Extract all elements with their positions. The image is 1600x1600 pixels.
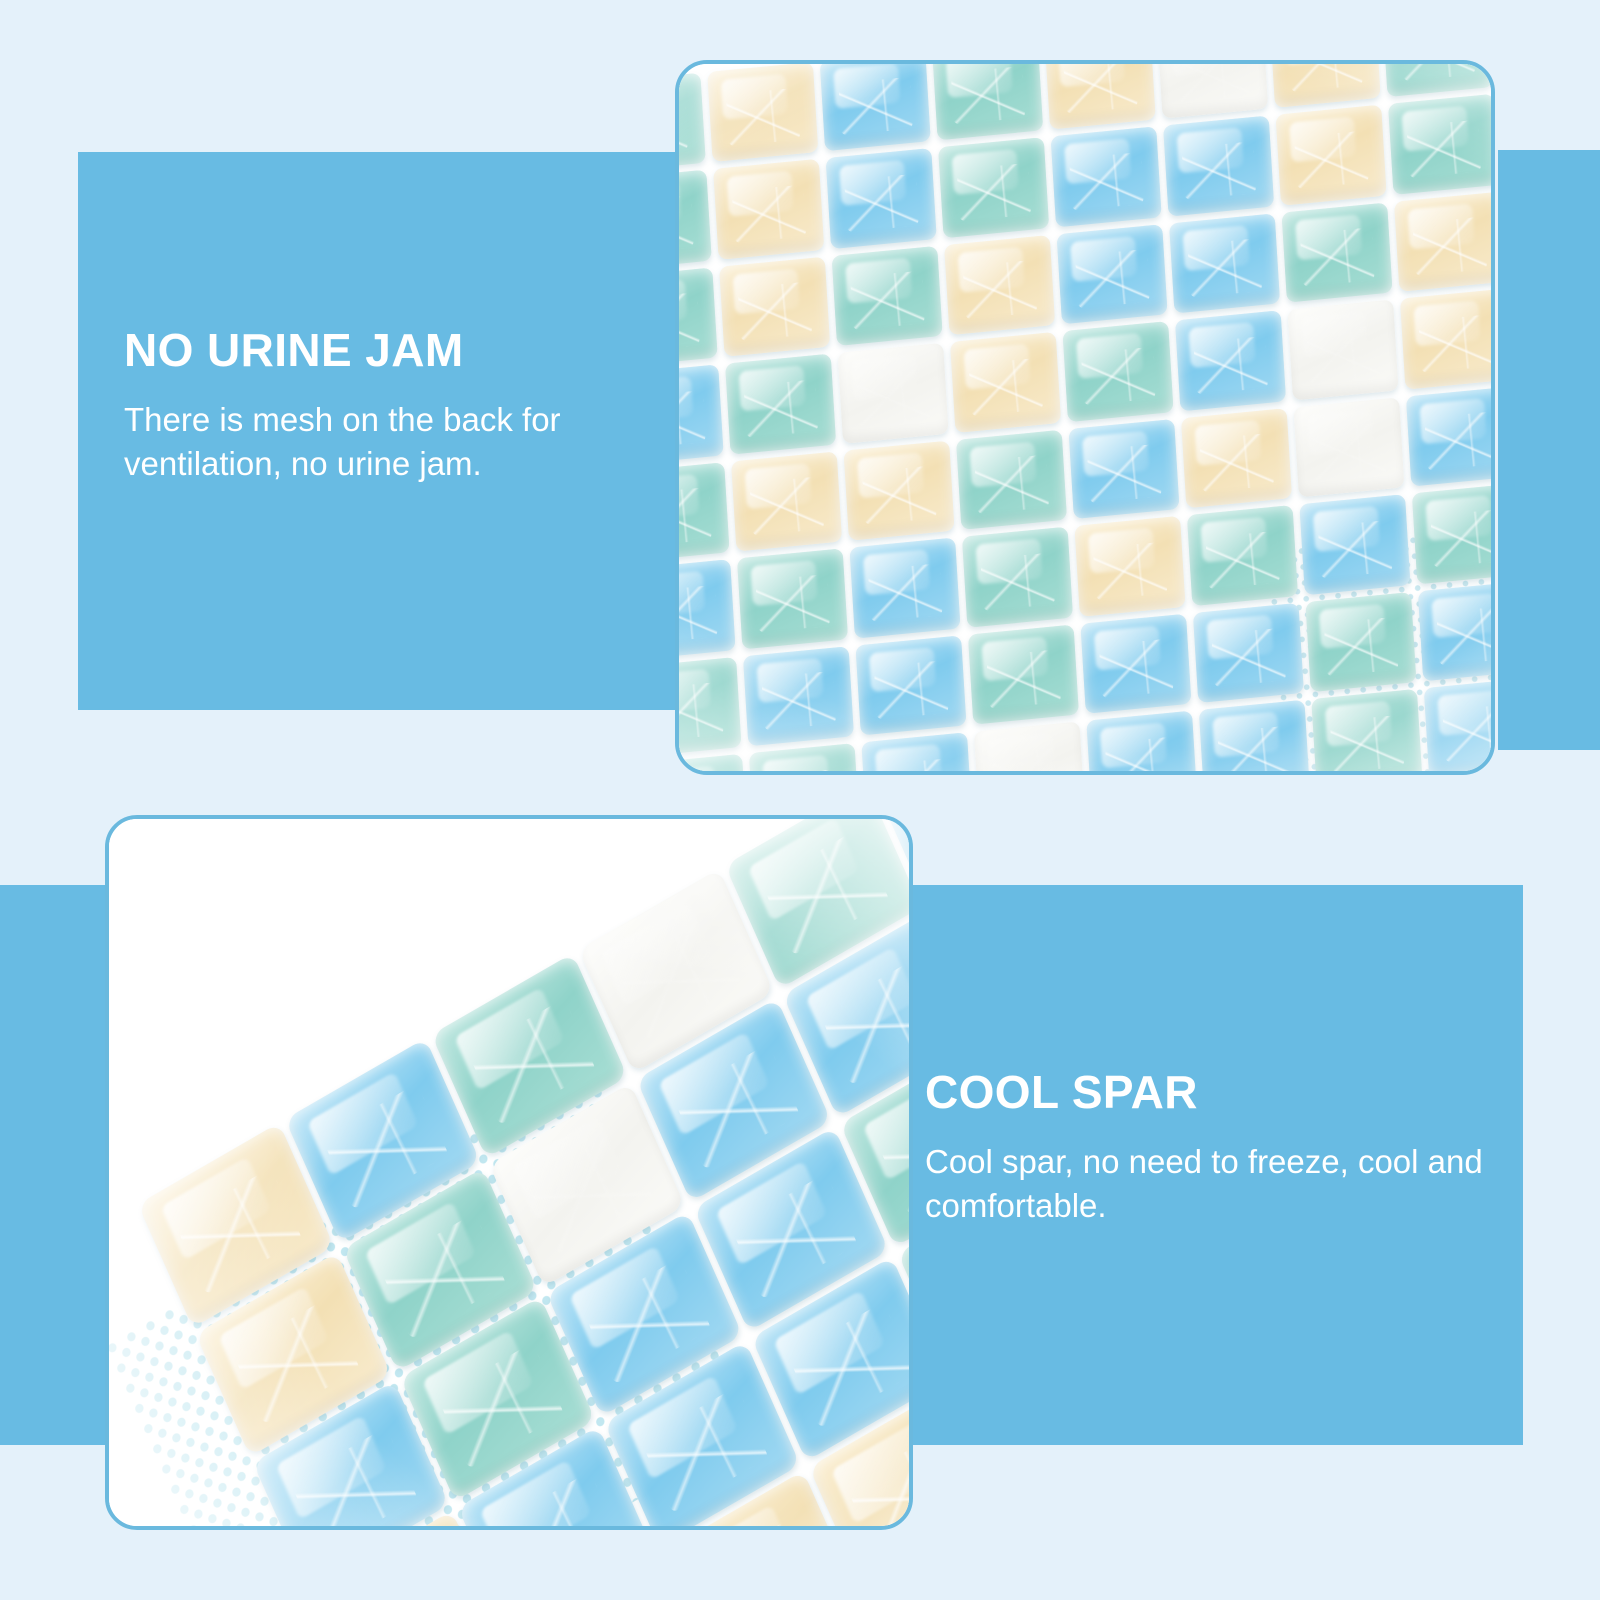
mosaic-tile [679, 73, 706, 173]
mosaic-tile [1287, 300, 1398, 400]
mosaic-tile [1400, 289, 1491, 389]
mosaic-tile [950, 332, 1061, 432]
mosaic-tile [968, 624, 1079, 724]
mosaic-tile [1163, 116, 1274, 216]
mosaic-tile [1080, 613, 1191, 713]
top-product-image-card [675, 60, 1495, 775]
mosaic-tile [1311, 689, 1422, 771]
mosaic-tile [956, 430, 1067, 530]
mosaic-tile [1175, 311, 1286, 411]
mosaic-tile [679, 267, 718, 367]
bottom-body-text: Cool spar, no need to freeze, cool and c… [925, 1140, 1485, 1228]
mosaic-tile [932, 64, 1043, 141]
mosaic-tile [1276, 105, 1387, 205]
mosaic-tile [1406, 386, 1491, 486]
mosaic-tile [974, 722, 1085, 771]
mosaic-tile [1394, 192, 1491, 292]
bottom-product-photo [109, 819, 909, 1526]
mosaic-tile [1412, 484, 1491, 584]
mosaic-tile [679, 170, 712, 270]
mosaic-tile [1293, 397, 1404, 497]
mosaic-tile-mat-top [679, 64, 1491, 771]
mosaic-tile [713, 159, 824, 259]
mosaic-tile [832, 246, 943, 346]
mosaic-tile [749, 743, 860, 771]
mosaic-tile [838, 343, 949, 443]
mosaic-tile [1270, 64, 1381, 108]
mosaic-tile [1063, 321, 1174, 421]
mosaic-tile [1282, 202, 1393, 302]
mosaic-tile [737, 549, 848, 649]
mosaic-tile [944, 235, 1055, 335]
mosaic-tile [679, 462, 730, 562]
mosaic-tile [1418, 581, 1491, 681]
mosaic-tile [844, 440, 955, 540]
mosaic-tile [1382, 64, 1491, 97]
mosaic-tile [1424, 678, 1491, 771]
mosaic-tile [679, 754, 747, 771]
mosaic-tile [1181, 408, 1292, 508]
top-headline: NO URINE JAM [124, 326, 684, 374]
bottom-headline: COOL SPAR [925, 1068, 1485, 1116]
mosaic-tile [1299, 494, 1410, 594]
mosaic-tile [1074, 516, 1185, 616]
mosaic-tile [1193, 603, 1304, 703]
mosaic-tile [855, 635, 966, 735]
mosaic-tile [725, 354, 836, 454]
mosaic-tile [719, 257, 830, 357]
mosaic-tile [1068, 419, 1179, 519]
mosaic-tile [1045, 64, 1156, 130]
mosaic-tile [679, 559, 736, 659]
mosaic-tile [826, 148, 937, 248]
top-right-accent-bar [1498, 150, 1600, 750]
bottom-product-image-card [105, 815, 913, 1530]
mosaic-tile [1169, 213, 1280, 313]
bottom-text-block: COOL SPAR Cool spar, no need to freeze, … [925, 1068, 1485, 1228]
top-product-photo [679, 64, 1491, 771]
mosaic-tile [743, 646, 854, 746]
top-text-block: NO URINE JAM There is mesh on the back f… [124, 326, 684, 486]
mosaic-tile [1057, 224, 1168, 324]
mosaic-tile [820, 64, 931, 152]
mosaic-tile-mat-bottom [138, 819, 909, 1526]
mosaic-tile [731, 451, 842, 551]
mosaic-tile [1157, 64, 1268, 119]
mosaic-tile [1086, 711, 1197, 771]
mosaic-tile [1051, 127, 1162, 227]
mosaic-tile [861, 732, 972, 771]
mosaic-tile [1388, 94, 1491, 194]
mosaic-tile [1199, 700, 1310, 771]
mosaic-tile [1305, 592, 1416, 692]
mosaic-tile [707, 64, 818, 162]
mosaic-tile [679, 365, 724, 465]
mosaic-tile [1187, 505, 1298, 605]
infographic-page: NO URINE JAM There is mesh on the back f… [0, 0, 1600, 1600]
mosaic-tile [938, 138, 1049, 238]
mosaic-tile [962, 527, 1073, 627]
top-body-text: There is mesh on the back for ventilatio… [124, 398, 684, 486]
bottom-left-accent-bar [0, 885, 107, 1445]
mosaic-tile [849, 538, 960, 638]
mosaic-tile [679, 657, 742, 757]
